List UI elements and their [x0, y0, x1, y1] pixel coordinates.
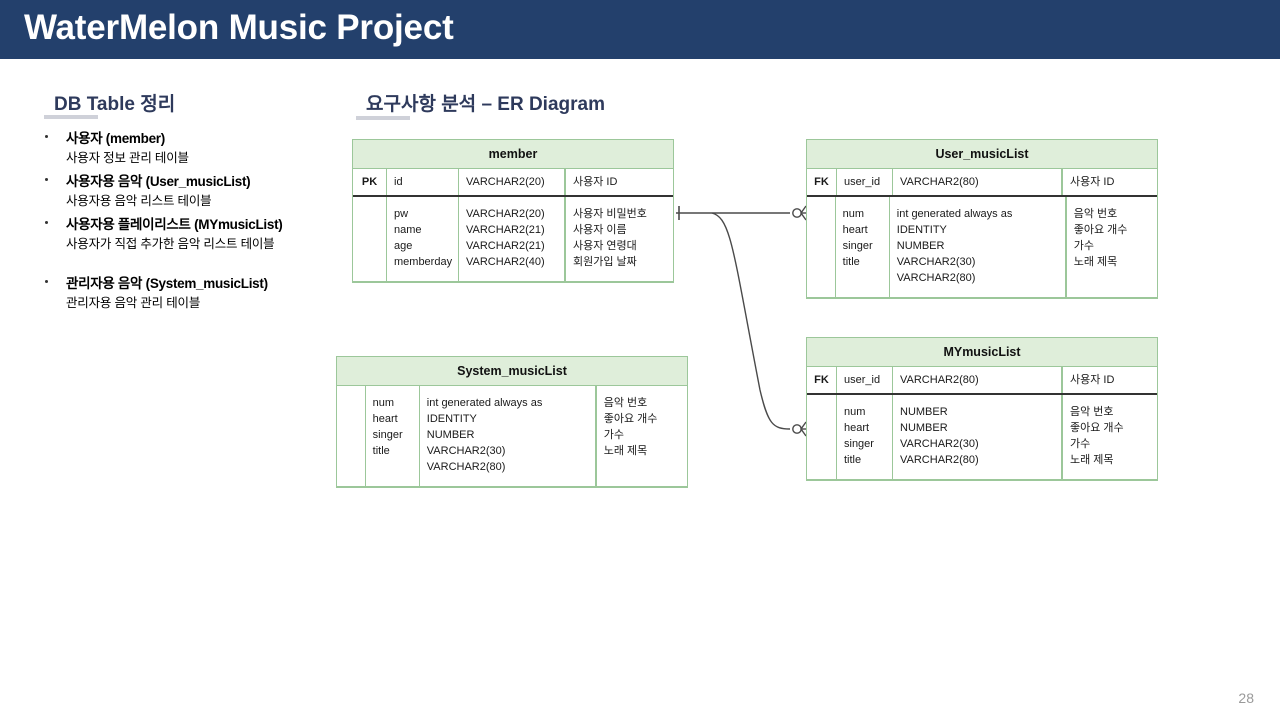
- er-cell-name: num heart singer title: [366, 386, 420, 486]
- er-cell-type: int generated always as IDENTITY NUMBER …: [890, 197, 1066, 297]
- er-cell-type: VARCHAR2(20): [459, 169, 565, 195]
- er-table-key-row: FK user_id VARCHAR2(80) 사용자 ID: [807, 367, 1157, 395]
- er-cell-desc: 음악 번호 좋아요 개수 가수 노래 제목: [596, 386, 687, 486]
- er-diagram-section-heading: 요구사항 분석 – ER Diagram: [366, 89, 605, 116]
- er-table-body: num heart singer title int generated alw…: [337, 386, 687, 487]
- er-cell-key: [337, 386, 366, 486]
- er-cell-name: num heart singer title: [836, 197, 890, 297]
- er-table-attr-row: pw name age memberday VARCHAR2(20) VARCH…: [353, 197, 673, 282]
- relationship-member-usermusiclist: [676, 206, 806, 220]
- er-cell-desc: 음악 번호 좋아요 개수 가수 노래 제목: [1066, 197, 1157, 297]
- er-table-key-row: PK id VARCHAR2(20) 사용자 ID: [353, 169, 673, 197]
- er-table-my-musiclist: MYmusicList FK user_id VARCHAR2(80) 사용자 …: [806, 337, 1158, 481]
- er-cell-name: num heart singer title: [837, 395, 893, 479]
- list-item: 사용자용 음악 (User_musicList) 사용자용 음악 리스트 테이블: [40, 173, 340, 210]
- er-cell-type: VARCHAR2(80): [893, 367, 1062, 393]
- db-table-heading-rule: [44, 115, 98, 119]
- er-table-title: member: [353, 140, 673, 169]
- er-table-user-musiclist: User_musicList FK user_id VARCHAR2(80) 사…: [806, 139, 1158, 299]
- er-table-title: User_musicList: [807, 140, 1157, 169]
- list-item-title: 관리자용 음악 (System_musicList): [66, 275, 340, 292]
- er-cell-key: [807, 197, 836, 297]
- list-item: 사용자 (member) 사용자 정보 관리 테이블: [40, 130, 340, 167]
- list-item-desc: 사용자가 직접 추가한 음악 리스트 테이블: [66, 236, 340, 253]
- er-table-title: System_musicList: [337, 357, 687, 386]
- slide-title-bar: WaterMelon Music Project: [0, 0, 1280, 59]
- er-table-system-musiclist: System_musicList num heart singer title …: [336, 356, 688, 488]
- er-cell-desc: 사용자 ID: [565, 169, 673, 195]
- er-cell-type: VARCHAR2(20) VARCHAR2(21) VARCHAR2(21) V…: [459, 197, 565, 281]
- er-cell-type: int generated always as IDENTITY NUMBER …: [420, 386, 596, 486]
- er-cell-desc: 사용자 ID: [1062, 169, 1157, 195]
- er-cell-key: PK: [353, 169, 387, 195]
- list-item: 관리자용 음악 (System_musicList) 관리자용 음악 관리 테이…: [40, 275, 340, 312]
- er-diagram-heading-rule: [356, 116, 410, 120]
- er-cell-type: NUMBER NUMBER VARCHAR2(30) VARCHAR2(80): [893, 395, 1062, 479]
- list-item-desc: 사용자용 음악 리스트 테이블: [66, 193, 340, 210]
- list-item-desc: 관리자용 음악 관리 테이블: [66, 295, 340, 312]
- er-table-title: MYmusicList: [807, 338, 1157, 367]
- er-cell-name: pw name age memberday: [387, 197, 459, 281]
- list-item-title: 사용자용 플레이리스트 (MYmusicList): [66, 216, 340, 233]
- er-cell-desc: 사용자 비밀번호 사용자 이름 사용자 연령대 회원가입 날짜: [565, 197, 673, 281]
- er-table-attr-row: num heart singer title int generated alw…: [337, 386, 687, 487]
- er-cell-key: [353, 197, 387, 281]
- er-cell-desc: 음악 번호 좋아요 개수 가수 노래 제목: [1062, 395, 1157, 479]
- er-table-body: FK user_id VARCHAR2(80) 사용자 ID num heart…: [807, 367, 1157, 480]
- db-table-section-heading: DB Table 정리: [54, 89, 175, 116]
- bullet-dot-icon: [45, 280, 48, 283]
- er-cell-name: id: [387, 169, 459, 195]
- er-table-body: FK user_id VARCHAR2(80) 사용자 ID num heart…: [807, 169, 1157, 298]
- er-cell-name: user_id: [837, 367, 893, 393]
- er-cell-key: FK: [807, 169, 837, 195]
- list-item-title: 사용자용 음악 (User_musicList): [66, 173, 340, 190]
- list-item-title: 사용자 (member): [66, 130, 340, 147]
- page-number: 28: [1238, 690, 1254, 706]
- db-table-list: 사용자 (member) 사용자 정보 관리 테이블 사용자용 음악 (User…: [40, 130, 340, 318]
- er-cell-desc: 사용자 ID: [1062, 367, 1157, 393]
- er-table-member: member PK id VARCHAR2(20) 사용자 ID pw name…: [352, 139, 674, 283]
- er-cell-key: [807, 395, 837, 479]
- bullet-dot-icon: [45, 135, 48, 138]
- list-item: 사용자용 플레이리스트 (MYmusicList) 사용자가 직접 추가한 음악…: [40, 216, 340, 253]
- page-title: WaterMelon Music Project: [24, 8, 454, 48]
- er-table-attr-row: num heart singer title NUMBER NUMBER VAR…: [807, 395, 1157, 480]
- relationship-member-mymusiclist: [712, 213, 806, 436]
- er-cell-name: user_id: [837, 169, 893, 195]
- er-table-key-row: FK user_id VARCHAR2(80) 사용자 ID: [807, 169, 1157, 197]
- bullet-dot-icon: [45, 221, 48, 224]
- er-cell-type: VARCHAR2(80): [893, 169, 1062, 195]
- list-item-desc: 사용자 정보 관리 테이블: [66, 150, 340, 167]
- er-table-body: PK id VARCHAR2(20) 사용자 ID pw name age me…: [353, 169, 673, 282]
- er-table-attr-row: num heart singer title int generated alw…: [807, 197, 1157, 298]
- er-cell-key: FK: [807, 367, 837, 393]
- bullet-dot-icon: [45, 178, 48, 181]
